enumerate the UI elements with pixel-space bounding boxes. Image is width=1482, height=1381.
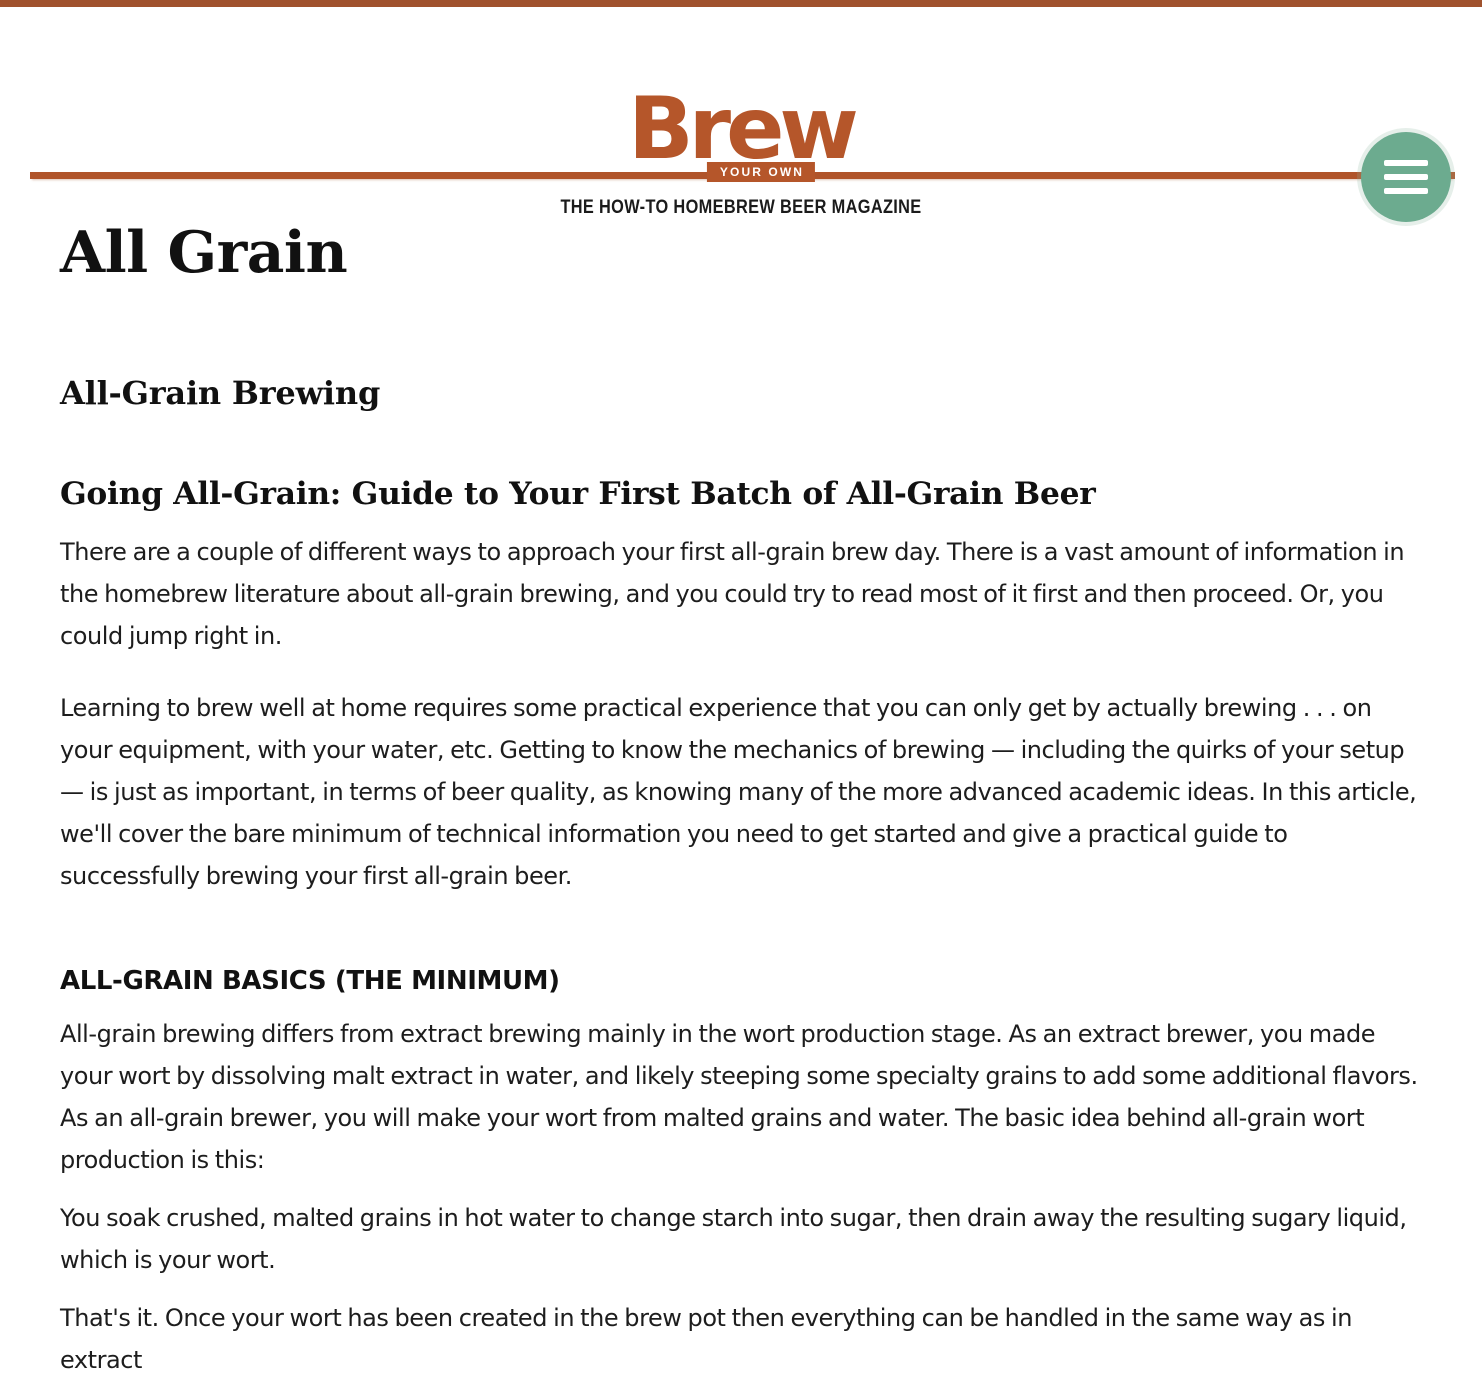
hamburger-bar-bottom bbox=[1384, 188, 1428, 194]
site-logo[interactable]: Brew YOUR OWN THE HOW-TO HOMEBREW BEER M… bbox=[591, 7, 891, 177]
article-category: All-Grain Brewing bbox=[60, 374, 1422, 412]
site-masthead: Brew YOUR OWN THE HOW-TO HOMEBREW BEER M… bbox=[0, 7, 1482, 222]
intro-paragraph-1: There are a couple of different ways to … bbox=[60, 531, 1422, 657]
section-paragraph-2: You soak crushed, malted grains in hot w… bbox=[60, 1197, 1422, 1281]
section-paragraph-3: That's it. Once your wort has been creat… bbox=[60, 1297, 1422, 1381]
intro-paragraph-2: Learning to brew well at home requires s… bbox=[60, 687, 1422, 897]
logo-tagline: THE HOW-TO HOMEBREW BEER MAGAZINE bbox=[560, 197, 921, 219]
article-body: All Grain All-Grain Brewing Going All-Gr… bbox=[60, 222, 1422, 1381]
top-accent-bar bbox=[0, 0, 1482, 7]
logo-badge-your-own: YOUR OWN bbox=[707, 162, 815, 182]
hamburger-menu-icon[interactable] bbox=[1361, 132, 1451, 222]
section-subhead: ALL-GRAIN BASICS (THE MINIMUM) bbox=[60, 965, 1422, 997]
page-title: All Grain bbox=[60, 222, 1449, 284]
hamburger-bar-middle bbox=[1384, 174, 1428, 180]
article-headline: Going All-Grain: Guide to Your First Bat… bbox=[60, 476, 1436, 513]
hamburger-bar-top bbox=[1384, 160, 1428, 166]
section-paragraph-1: All-grain brewing differs from extract b… bbox=[60, 1013, 1422, 1181]
